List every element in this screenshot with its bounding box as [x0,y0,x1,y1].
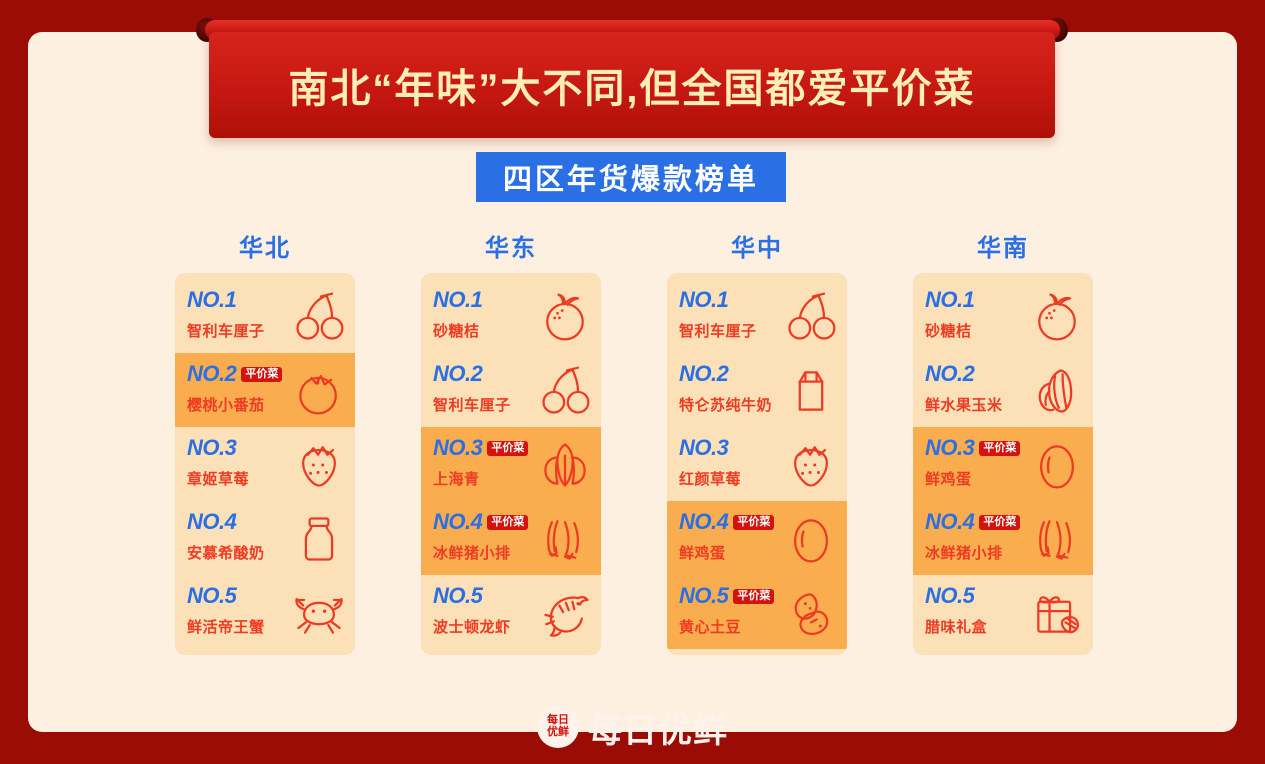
cheap-price-badge: 平价菜 [979,441,1020,456]
cheap-price-badge: 平价菜 [487,441,528,456]
ranking-column: 华南NO.1砂糖桔NO.2鲜水果玉米NO.3平价菜鲜鸡蛋NO.4平价菜冰鲜猪小排… [913,228,1093,655]
rank-row[interactable]: NO.4平价菜鲜鸡蛋 [667,501,847,575]
rank-number: NO.3 [433,437,482,459]
cheap-price-badge: 平价菜 [487,515,528,530]
rank-row[interactable]: NO.2平价菜樱桃小番茄 [175,353,355,427]
column-header: 华北 [175,228,355,263]
yogurt-bottle-icon [291,511,347,567]
rank-number: NO.5 [679,585,728,607]
orange-icon [537,289,593,345]
column-header: 华东 [421,228,601,263]
ranking-columns: 华北NO.1智利车厘子NO.2平价菜樱桃小番茄NO.3章姬草莓NO.4安慕希酸奶… [0,228,1265,658]
column-card: NO.1智利车厘子NO.2特仑苏纯牛奶NO.3红颜草莓NO.4平价菜鲜鸡蛋NO.… [667,273,847,655]
rank-row[interactable]: NO.3平价菜上海青 [421,427,601,501]
shrimp-icon [537,585,593,641]
cheap-price-badge: 平价菜 [733,589,774,604]
rank-row[interactable]: NO.2鲜水果玉米 [913,353,1093,427]
cherry-icon [291,289,347,345]
rank-number: NO.2 [433,363,482,385]
rank-row[interactable]: NO.1智利车厘子 [667,279,847,353]
crab-icon [291,585,347,641]
gift-box-icon [1029,585,1085,641]
rank-row[interactable]: NO.5平价菜黄心土豆 [667,575,847,649]
rank-number: NO.3 [187,437,236,459]
rank-row[interactable]: NO.2智利车厘子 [421,353,601,427]
subtitle-label: 四区年货爆款榜单 [503,156,759,198]
column-card: NO.1砂糖桔NO.2鲜水果玉米NO.3平价菜鲜鸡蛋NO.4平价菜冰鲜猪小排NO… [913,273,1093,655]
bokchoy-icon [537,437,593,493]
pork-ribs-icon [537,511,593,567]
rank-number: NO.2 [187,363,236,385]
rank-number: NO.2 [679,363,728,385]
rank-row[interactable]: NO.2特仑苏纯牛奶 [667,353,847,427]
cherry-icon [783,289,839,345]
brand-logo-mark: 每日 优鲜 [537,706,579,748]
rank-number: NO.4 [433,511,482,533]
rank-row[interactable]: NO.5腊味礼盒 [913,575,1093,649]
title-banner: 南北“年味”大不同,但全国都爱平价菜 [209,32,1055,138]
cheap-price-badge: 平价菜 [733,515,774,530]
corn-icon [1029,363,1085,419]
banner-scroll: 南北“年味”大不同,但全国都爱平价菜 [0,0,1265,155]
cherry-icon [537,363,593,419]
rank-number: NO.5 [925,585,974,607]
ranking-column: 华东NO.1砂糖桔NO.2智利车厘子NO.3平价菜上海青NO.4平价菜冰鲜猪小排… [421,228,601,655]
milk-carton-icon [783,363,839,419]
column-card: NO.1砂糖桔NO.2智利车厘子NO.3平价菜上海青NO.4平价菜冰鲜猪小排NO… [421,273,601,655]
rank-number: NO.4 [187,511,236,533]
tomato-icon [291,363,347,419]
rank-row[interactable]: NO.4平价菜冰鲜猪小排 [421,501,601,575]
rank-row[interactable]: NO.3章姬草莓 [175,427,355,501]
rank-number: NO.5 [187,585,236,607]
strawberry-icon [783,437,839,493]
column-card: NO.1智利车厘子NO.2平价菜樱桃小番茄NO.3章姬草莓NO.4安慕希酸奶NO… [175,273,355,655]
column-header: 华南 [913,228,1093,263]
rank-row[interactable]: NO.3红颜草莓 [667,427,847,501]
column-header: 华中 [667,228,847,263]
rank-number: NO.2 [925,363,974,385]
egg-icon [783,511,839,567]
rank-row[interactable]: NO.1智利车厘子 [175,279,355,353]
rank-row[interactable]: NO.4平价菜冰鲜猪小排 [913,501,1093,575]
pork-ribs-icon [1029,511,1085,567]
rank-number: NO.3 [925,437,974,459]
ranking-column: 华中NO.1智利车厘子NO.2特仑苏纯牛奶NO.3红颜草莓NO.4平价菜鲜鸡蛋N… [667,228,847,655]
strawberry-icon [291,437,347,493]
rank-number: NO.5 [433,585,482,607]
rank-number: NO.4 [925,511,974,533]
cheap-price-badge: 平价菜 [241,367,282,382]
egg-icon [1029,437,1085,493]
potato-icon [783,585,839,641]
rank-row[interactable]: NO.4安慕希酸奶 [175,501,355,575]
rank-row[interactable]: NO.5鲜活帝王蟹 [175,575,355,649]
rank-row[interactable]: NO.5波士顿龙虾 [421,575,601,649]
rank-number: NO.1 [679,289,728,311]
rank-number: NO.1 [433,289,482,311]
rank-row[interactable]: NO.1砂糖桔 [421,279,601,353]
rank-number: NO.3 [679,437,728,459]
rank-number: NO.4 [679,511,728,533]
rank-number: NO.1 [925,289,974,311]
footer-brand: 每日 优鲜 每日优鲜 [0,690,1265,764]
rank-row[interactable]: NO.3平价菜鲜鸡蛋 [913,427,1093,501]
orange-icon [1029,289,1085,345]
ranking-column: 华北NO.1智利车厘子NO.2平价菜樱桃小番茄NO.3章姬草莓NO.4安慕希酸奶… [175,228,355,655]
rank-number: NO.1 [187,289,236,311]
brand-mark-line2: 优鲜 [547,727,569,739]
rank-row[interactable]: NO.1砂糖桔 [913,279,1093,353]
subtitle-badge: 四区年货爆款榜单 [476,152,786,202]
brand-name: 每日优鲜 [588,703,728,752]
page-title: 南北“年味”大不同,但全国都爱平价菜 [288,56,975,114]
cheap-price-badge: 平价菜 [979,515,1020,530]
